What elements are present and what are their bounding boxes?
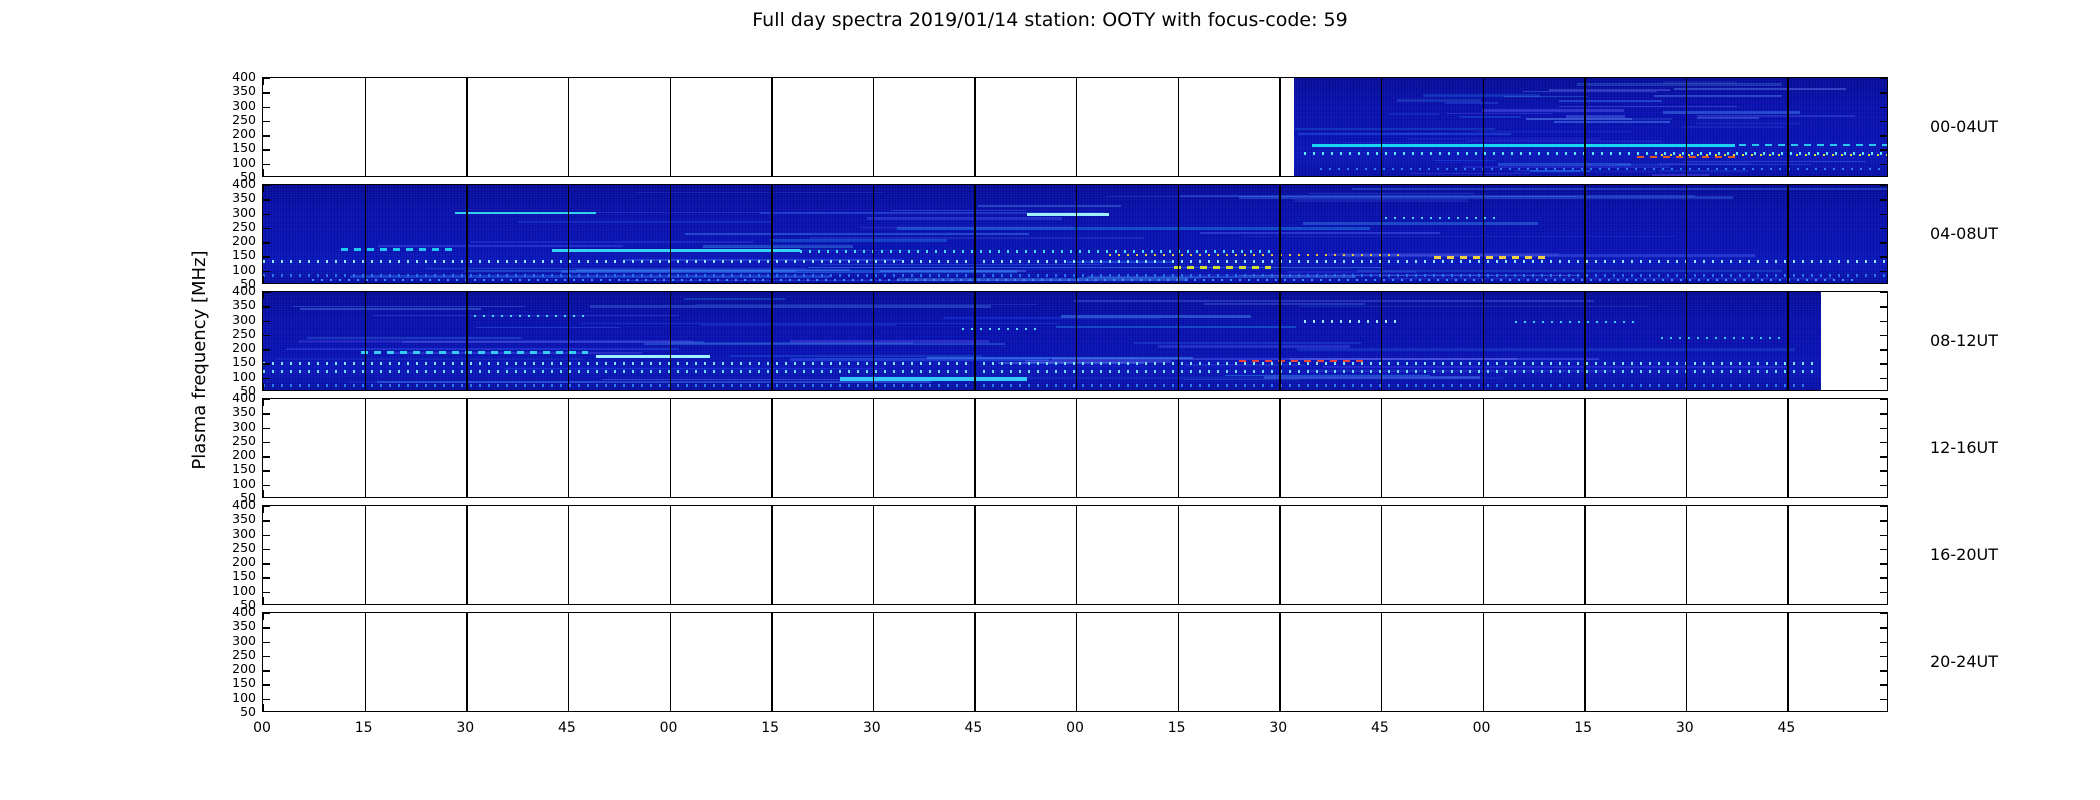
spectrogram-speckle: [1482, 109, 1624, 112]
y-tick-mark: [263, 456, 270, 457]
y-tick-label: 300: [200, 528, 256, 539]
y-tick-mark-right: [1880, 627, 1887, 628]
vertical-gridline: [1279, 613, 1280, 711]
y-tick-label: 200: [200, 235, 256, 246]
x-tick-mark: [1178, 490, 1179, 497]
spectrogram-speckle: [1323, 366, 1787, 368]
vertical-gridline: [1381, 613, 1382, 711]
x-tick-mark: [1381, 490, 1382, 497]
x-tick-mark: [1076, 383, 1077, 390]
x-tick-mark-top: [1178, 292, 1179, 299]
spectrogram-speckle: [293, 306, 525, 307]
y-tick-label: 300: [200, 207, 256, 218]
x-tick-mark: [1279, 597, 1280, 604]
y-tick-mark: [263, 428, 270, 429]
y-tick-label: 200: [200, 556, 256, 567]
y-tick-label: 200: [200, 663, 256, 674]
vertical-gridline: [974, 506, 975, 604]
spectrogram-speckle: [307, 337, 520, 339]
y-tick-mark: [263, 520, 270, 521]
y-tick-mark-right: [1880, 442, 1887, 443]
x-tick-mark-top: [263, 185, 264, 192]
vertical-gridline: [670, 506, 671, 604]
y-tick-mark: [263, 535, 270, 536]
y-tick-mark: [263, 470, 270, 471]
x-tick-mark-top: [1279, 506, 1280, 513]
x-tick-mark-top: [873, 506, 874, 513]
y-tick-label: 200: [200, 342, 256, 353]
vertical-gridline: [365, 185, 366, 283]
x-tick-mark-top: [365, 399, 366, 406]
x-tick-mark-top: [1686, 78, 1687, 85]
y-tick-mark-right: [1880, 271, 1887, 272]
vertical-gridline: [771, 399, 772, 497]
y-tick-mark-right: [1880, 335, 1887, 336]
spectrogram-speckle: [590, 305, 992, 308]
y-tick-label: 100: [200, 157, 256, 168]
y-tick-mark-right: [1880, 520, 1887, 521]
x-tick-mark: [568, 169, 569, 176]
vertical-gridline: [1584, 185, 1585, 283]
y-tick-mark-right: [1880, 164, 1887, 165]
vertical-gridline: [365, 613, 366, 711]
spectrogram-speckle: [1654, 95, 1782, 97]
y-tick-label: 250: [200, 328, 256, 339]
spectrogram-speckle: [425, 268, 806, 269]
y-tick-label: 250: [200, 114, 256, 125]
x-tick-mark: [1483, 597, 1484, 604]
vertical-gridline: [1076, 506, 1077, 604]
vertical-gridline: [1787, 292, 1788, 390]
spectrogram-speckle: [1225, 375, 1430, 376]
y-tick-mark: [263, 256, 270, 257]
x-tick-mark-top: [1381, 292, 1382, 299]
x-tick-mark: [568, 490, 569, 497]
spectrogram-speckle: [1303, 222, 1538, 225]
vertical-gridline: [1686, 78, 1687, 176]
x-tick-mark-top: [873, 185, 874, 192]
x-tick-mark-top: [1584, 185, 1585, 192]
x-tick-mark-top: [1483, 78, 1484, 85]
x-tick-mark-top: [466, 78, 467, 85]
x-tick-mark-top: [1483, 292, 1484, 299]
vertical-gridline: [1076, 78, 1077, 176]
y-tick-mark: [263, 321, 270, 322]
y-tick-mark-right: [1880, 684, 1887, 685]
y-tick-mark: [263, 335, 270, 336]
x-tick-mark-top: [1381, 78, 1382, 85]
x-tick-mark-top: [1787, 613, 1788, 620]
x-tick-mark-top: [974, 292, 975, 299]
vertical-gridline: [466, 78, 467, 176]
spectrogram-speckle: [1466, 140, 1662, 142]
x-tick-mark: [1381, 169, 1382, 176]
y-tick-mark-right: [1880, 349, 1887, 350]
spectrogram-speckle: [470, 241, 753, 243]
vertical-gridline: [1178, 185, 1179, 283]
x-tick-mark-top: [1076, 292, 1077, 299]
spectrogram-speckle: [1200, 232, 1440, 234]
y-tick-mark-right: [1880, 107, 1887, 108]
x-tick-mark: [1076, 276, 1077, 283]
x-tick-mark: [263, 597, 264, 604]
x-tick-mark: [1686, 169, 1687, 176]
x-tick-mark-top: [1584, 292, 1585, 299]
x-tick-mark: [771, 597, 772, 604]
vertical-gridline: [365, 399, 366, 497]
y-tick-mark-right: [1880, 577, 1887, 578]
spectrogram-speckle: [1074, 300, 1594, 302]
x-tick-mark: [466, 490, 467, 497]
y-tick-label: 350: [200, 620, 256, 631]
x-tick-label: 45: [1766, 720, 1806, 736]
x-tick-mark: [1076, 490, 1077, 497]
vertical-gridline: [873, 78, 874, 176]
spectrogram-speckle: [1299, 306, 1648, 307]
x-tick-mark: [466, 597, 467, 604]
vertical-gridline: [1279, 78, 1280, 176]
x-tick-mark: [771, 169, 772, 176]
x-tick-mark-top: [1076, 185, 1077, 192]
vertical-gridline: [1483, 78, 1484, 176]
y-tick-mark-right: [1880, 321, 1887, 322]
y-tick-label: 400: [200, 499, 256, 510]
y-tick-mark-right: [1880, 256, 1887, 257]
x-tick-mark-top: [974, 613, 975, 620]
x-tick-mark: [365, 597, 366, 604]
x-tick-mark: [974, 490, 975, 497]
spectrogram-speckle: [1342, 254, 1755, 257]
x-tick-label: 15: [1563, 720, 1603, 736]
emission-trace: [840, 377, 1027, 381]
emission-trace: [455, 212, 596, 214]
y-tick-mark: [263, 228, 270, 229]
x-tick-mark: [1686, 276, 1687, 283]
vertical-gridline: [873, 613, 874, 711]
x-tick-mark-top: [1787, 78, 1788, 85]
y-tick-label: 100: [200, 692, 256, 703]
x-tick-mark-top: [1381, 613, 1382, 620]
x-tick-mark-top: [263, 399, 264, 406]
spectrogram-speckle: [518, 221, 772, 223]
y-tick-mark-right: [1880, 428, 1887, 429]
spectrogram-speckle: [808, 267, 1383, 268]
spectrogram-panel-20-24ut: [262, 612, 1888, 712]
spectrogram-speckle: [1434, 160, 1495, 161]
x-tick-label: 45: [1360, 720, 1400, 736]
vertical-gridline: [1381, 78, 1382, 176]
x-tick-mark: [365, 704, 366, 711]
y-tick-mark-right: [1880, 413, 1887, 414]
x-tick-mark-top: [771, 185, 772, 192]
spectrogram-speckle: [1697, 115, 1855, 117]
x-tick-mark-top: [1076, 78, 1077, 85]
panel-row-label: 12-16UT: [1930, 438, 1998, 457]
x-tick-mark-top: [1178, 506, 1179, 513]
x-tick-mark-top: [263, 78, 264, 85]
y-tick-mark: [263, 684, 270, 685]
y-tick-label: 400: [200, 178, 256, 189]
y-tick-mark-right: [1880, 363, 1887, 364]
x-tick-mark: [771, 704, 772, 711]
y-tick-label: 300: [200, 635, 256, 646]
x-tick-mark-top: [365, 78, 366, 85]
vertical-gridline: [1381, 292, 1382, 390]
x-tick-mark: [365, 490, 366, 497]
x-tick-mark-top: [263, 292, 264, 299]
x-tick-mark-top: [1584, 506, 1585, 513]
emission-trace: [263, 362, 1816, 365]
vertical-gridline: [1381, 399, 1382, 497]
spectrogram-panel-04-08ut: [262, 184, 1888, 284]
y-tick-mark: [263, 485, 270, 486]
vertical-gridline: [1686, 506, 1687, 604]
panel-background: [263, 506, 1887, 604]
y-tick-mark-right: [1880, 456, 1887, 457]
vertical-gridline: [1381, 506, 1382, 604]
y-tick-label: 350: [200, 85, 256, 96]
y-tick-label: 300: [200, 421, 256, 432]
y-tick-mark: [263, 577, 270, 578]
spectrogram-speckle: [1389, 113, 1440, 115]
spectrogram-speckle: [1134, 342, 1361, 344]
x-tick-mark: [974, 169, 975, 176]
y-tick-mark: [263, 135, 270, 136]
panel-row-label: 00-04UT: [1930, 117, 1998, 136]
y-tick-mark: [263, 563, 270, 564]
x-tick-mark-top: [1686, 399, 1687, 406]
emission-trace: [474, 315, 588, 317]
x-tick-mark-top: [873, 613, 874, 620]
emission-trace: [1027, 213, 1108, 216]
x-tick-mark-top: [974, 78, 975, 85]
y-tick-label: 100: [200, 478, 256, 489]
x-tick-mark: [1686, 597, 1687, 604]
x-tick-mark-top: [365, 506, 366, 513]
spectrogram-speckle: [1609, 165, 1672, 166]
spectrogram-speckle: [978, 205, 1121, 207]
y-tick-label: 300: [200, 314, 256, 325]
vertical-gridline: [974, 613, 975, 711]
x-tick-mark: [1279, 169, 1280, 176]
figure-title: Full day spectra 2019/01/14 station: OOT…: [0, 9, 2100, 31]
y-tick-mark: [263, 627, 270, 628]
x-tick-mark: [365, 276, 366, 283]
vertical-gridline: [1686, 185, 1687, 283]
x-tick-mark-top: [568, 78, 569, 85]
x-tick-mark: [1787, 169, 1788, 176]
x-tick-mark-top: [1178, 399, 1179, 406]
vertical-gridline: [1787, 185, 1788, 283]
y-tick-mark-right: [1880, 149, 1887, 150]
y-tick-mark-right: [1880, 535, 1887, 536]
x-tick-mark: [1787, 704, 1788, 711]
vertical-gridline: [1584, 399, 1585, 497]
vertical-gridline: [771, 78, 772, 176]
x-tick-mark-top: [1787, 292, 1788, 299]
spectrogram-speckle: [1554, 121, 1670, 123]
emission-trace: [1109, 254, 1402, 256]
y-tick-label: 100: [200, 264, 256, 275]
x-tick-mark: [263, 704, 264, 711]
x-tick-mark: [873, 704, 874, 711]
y-tick-label: 50: [200, 706, 256, 717]
x-tick-mark-top: [873, 292, 874, 299]
y-tick-mark-right: [1880, 699, 1887, 700]
spectrogram-speckle: [1295, 128, 1495, 130]
x-tick-mark-top: [873, 399, 874, 406]
vertical-gridline: [568, 613, 569, 711]
spectrogram-speckle: [1391, 133, 1448, 134]
x-tick-mark: [873, 276, 874, 283]
spectrogram-speckle: [1204, 303, 1366, 305]
spectrogram-speckle: [1241, 236, 1674, 237]
x-tick-mark: [466, 169, 467, 176]
spectrogram-speckle: [1659, 170, 1749, 172]
spectrogram-speckle: [703, 245, 853, 248]
x-tick-mark: [670, 597, 671, 604]
x-tick-mark: [1584, 383, 1585, 390]
spectrogram-speckle: [684, 298, 785, 300]
vertical-gridline: [568, 292, 569, 390]
x-tick-mark-top: [1584, 613, 1585, 620]
spectrogram-speckle: [1352, 188, 1888, 190]
vertical-gridline: [466, 399, 467, 497]
y-tick-mark-right: [1880, 185, 1887, 186]
x-tick-mark-top: [1584, 78, 1585, 85]
x-tick-mark: [568, 597, 569, 604]
spectrogram-speckle: [1652, 174, 1708, 176]
y-tick-mark-right: [1880, 549, 1887, 550]
y-tick-mark-right: [1880, 78, 1887, 79]
x-tick-mark-top: [568, 613, 569, 620]
x-tick-mark-top: [1178, 185, 1179, 192]
x-tick-mark: [1076, 704, 1077, 711]
x-tick-mark-top: [1279, 613, 1280, 620]
vertical-gridline: [466, 185, 467, 283]
x-tick-mark: [974, 383, 975, 390]
spectrogram-image: [1294, 78, 1888, 176]
x-tick-mark-top: [568, 399, 569, 406]
x-tick-mark: [1584, 276, 1585, 283]
x-tick-mark: [873, 383, 874, 390]
spectrogram-image: [263, 292, 1821, 390]
x-tick-mark-top: [466, 185, 467, 192]
vertical-gridline: [568, 506, 569, 604]
x-tick-mark: [771, 276, 772, 283]
spectrogram-speckle: [581, 323, 1060, 324]
vertical-gridline: [873, 292, 874, 390]
x-tick-mark: [263, 169, 264, 176]
vertical-gridline: [466, 613, 467, 711]
x-tick-label: 30: [1665, 720, 1705, 736]
spectrogram-panel-16-20ut: [262, 505, 1888, 605]
x-tick-mark-top: [1686, 613, 1687, 620]
vertical-gridline: [670, 78, 671, 176]
x-tick-mark: [670, 276, 671, 283]
figure-canvas: Full day spectra 2019/01/14 station: OOT…: [0, 0, 2100, 800]
x-tick-mark: [670, 169, 671, 176]
vertical-gridline: [670, 185, 671, 283]
x-tick-label: 15: [750, 720, 790, 736]
vertical-gridline: [1584, 292, 1585, 390]
x-tick-mark: [1686, 490, 1687, 497]
y-tick-label: 200: [200, 128, 256, 139]
x-tick-mark-top: [771, 292, 772, 299]
y-tick-label: 400: [200, 606, 256, 617]
vertical-gridline: [974, 185, 975, 283]
x-tick-mark: [568, 704, 569, 711]
y-tick-mark: [263, 549, 270, 550]
spectrogram-speckle: [943, 317, 1160, 319]
x-tick-mark-top: [670, 292, 671, 299]
vertical-gridline: [1483, 399, 1484, 497]
spectrogram-speckle: [770, 239, 948, 242]
spectrogram-speckle: [1696, 122, 1801, 125]
x-tick-mark-top: [873, 78, 874, 85]
vertical-gridline: [1279, 185, 1280, 283]
x-tick-mark-top: [670, 399, 671, 406]
x-tick-mark: [365, 383, 366, 390]
vertical-gridline: [1076, 292, 1077, 390]
x-tick-mark-top: [365, 185, 366, 192]
x-tick-label: 15: [344, 720, 384, 736]
vertical-gridline: [771, 613, 772, 711]
spectrogram-speckle: [685, 233, 1030, 235]
panel-row-label: 08-12UT: [1930, 331, 1998, 350]
y-tick-mark: [263, 442, 270, 443]
y-tick-mark: [263, 149, 270, 150]
x-tick-mark: [1483, 383, 1484, 390]
x-tick-mark: [1686, 383, 1687, 390]
x-tick-mark-top: [1279, 185, 1280, 192]
spectrogram-speckle: [286, 348, 679, 350]
x-tick-label: 00: [242, 720, 282, 736]
y-tick-mark-right: [1880, 121, 1887, 122]
panel-row-label: 04-08UT: [1930, 224, 1998, 243]
spectrogram-speckle: [1682, 126, 1786, 128]
y-tick-label: 200: [200, 449, 256, 460]
y-tick-mark: [263, 306, 270, 307]
x-tick-mark-top: [1178, 78, 1179, 85]
y-tick-label: 400: [200, 71, 256, 82]
x-tick-label: 30: [445, 720, 485, 736]
vertical-gridline: [568, 185, 569, 283]
vertical-gridline: [873, 399, 874, 497]
y-tick-label: 150: [200, 463, 256, 474]
y-tick-label: 250: [200, 542, 256, 553]
y-tick-mark-right: [1880, 292, 1887, 293]
y-tick-label: 350: [200, 299, 256, 310]
x-tick-mark: [1381, 597, 1382, 604]
x-tick-mark: [466, 276, 467, 283]
x-tick-mark: [1076, 169, 1077, 176]
vertical-gridline: [1483, 613, 1484, 711]
x-tick-mark: [568, 276, 569, 283]
y-tick-label: 400: [200, 392, 256, 403]
vertical-gridline: [1584, 613, 1585, 711]
y-tick-mark: [263, 592, 270, 593]
y-tick-mark: [263, 214, 270, 215]
y-tick-label: 150: [200, 142, 256, 153]
emission-trace: [263, 384, 1808, 387]
y-tick-mark: [263, 242, 270, 243]
y-tick-mark-right: [1880, 613, 1887, 614]
x-tick-mark: [1178, 169, 1179, 176]
vertical-gridline: [771, 506, 772, 604]
emission-trace: [361, 351, 589, 354]
x-tick-mark-top: [670, 78, 671, 85]
